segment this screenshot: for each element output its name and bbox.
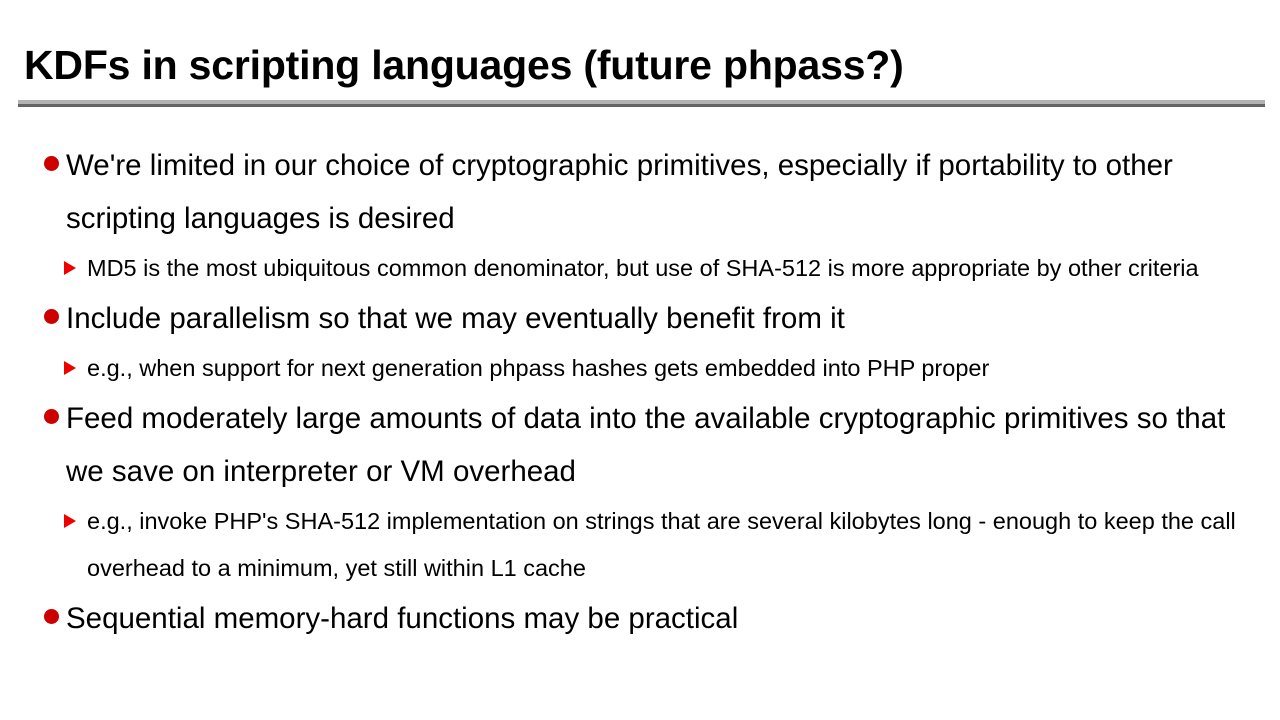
red-triangle-bullet-icon xyxy=(64,514,76,528)
red-circle-bullet-icon xyxy=(44,156,59,171)
bullet-text: e.g., invoke PHP's SHA-512 implementatio… xyxy=(87,498,1240,592)
bullet-text: Sequential memory-hard functions may be … xyxy=(66,592,1240,645)
sub-bullet-item: e.g., invoke PHP's SHA-512 implementatio… xyxy=(0,498,1280,592)
title-underline-rule xyxy=(18,100,1265,107)
sub-bullet-item: MD5 is the most ubiquitous common denomi… xyxy=(0,245,1280,292)
bullet-item: Feed moderately large amounts of data in… xyxy=(0,392,1280,498)
red-circle-bullet-icon xyxy=(44,309,59,324)
bullet-text: Include parallelism so that we may event… xyxy=(66,292,1240,345)
bullet-item: Sequential memory-hard functions may be … xyxy=(0,592,1280,645)
red-triangle-bullet-icon xyxy=(64,261,76,275)
bullet-item: We're limited in our choice of cryptogra… xyxy=(0,139,1280,245)
red-circle-bullet-icon xyxy=(44,609,59,624)
red-circle-bullet-icon xyxy=(44,409,59,424)
bullet-list: We're limited in our choice of cryptogra… xyxy=(0,139,1280,645)
rule-dark-band xyxy=(18,104,1265,107)
sub-bullet-item: e.g., when support for next generation p… xyxy=(0,345,1280,392)
slide-canvas: KDFs in scripting languages (future phpa… xyxy=(0,0,1280,720)
bullet-text: e.g., when support for next generation p… xyxy=(87,345,1240,392)
bullet-text: MD5 is the most ubiquitous common denomi… xyxy=(87,245,1240,292)
red-triangle-bullet-icon xyxy=(64,361,76,375)
page-title: KDFs in scripting languages (future phpa… xyxy=(24,40,1264,90)
bullet-text: Feed moderately large amounts of data in… xyxy=(66,392,1240,498)
bullet-text: We're limited in our choice of cryptogra… xyxy=(66,139,1240,245)
bullet-item: Include parallelism so that we may event… xyxy=(0,292,1280,345)
